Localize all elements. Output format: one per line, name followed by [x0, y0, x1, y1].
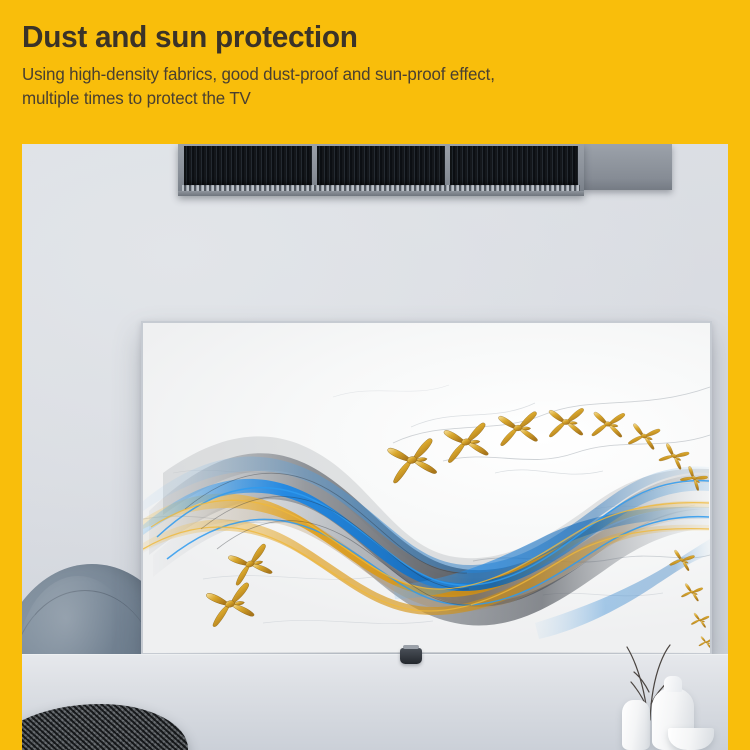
cabinet-panel-1	[184, 146, 312, 186]
console-decor-object	[400, 648, 422, 664]
golden-bird	[667, 548, 696, 572]
vase-bowl	[668, 728, 714, 750]
vase-group	[618, 644, 728, 750]
golden-bird	[690, 612, 710, 629]
cabinet-right-extension	[584, 144, 672, 190]
ceiling-slat-cabinet	[178, 144, 584, 196]
golden-bird-flock	[143, 323, 710, 653]
golden-bird	[545, 407, 587, 437]
golden-bird	[589, 410, 627, 438]
tv-screen	[143, 323, 710, 653]
golden-bird	[680, 582, 705, 603]
golden-bird	[439, 420, 494, 463]
golden-bird	[382, 436, 443, 484]
page-title: Dust and sun protection	[22, 20, 694, 55]
page-subtitle-line-2: multiple times to protect the TV	[22, 86, 705, 111]
header-text-block: Dust and sun protection Using high-densi…	[22, 20, 722, 111]
golden-bird	[626, 421, 663, 451]
golden-bird	[494, 410, 542, 446]
vase-slim	[622, 700, 650, 750]
page-subtitle-line-1: Using high-density fabrics, good dust-pr…	[22, 62, 705, 87]
cabinet-panel-2	[317, 146, 445, 186]
golden-bird	[200, 580, 259, 628]
product-scene-photo	[22, 144, 728, 750]
page-subtitle: Using high-density fabrics, good dust-pr…	[22, 62, 705, 111]
wall-mounted-tv	[141, 321, 712, 655]
cabinet-base-rail	[178, 191, 584, 196]
cabinet-panel-3	[450, 146, 578, 186]
promo-banner-page: Dust and sun protection Using high-densi…	[0, 0, 750, 750]
